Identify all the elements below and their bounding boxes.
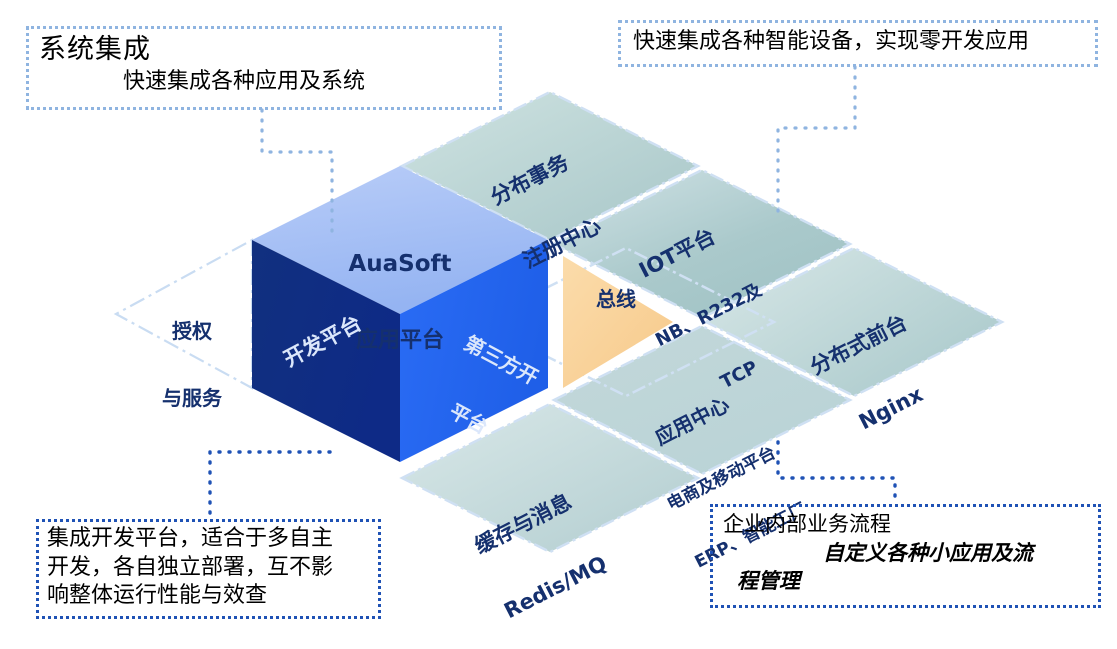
callout-iot-devices[interactable]: 快速集成各种智能设备，实现零开发应用 — [618, 20, 1098, 67]
tile-authorization-service[interactable] — [116, 240, 252, 388]
diagram-canvas: AuaSoft 应用平台 开发平台 第三方开 平台 授权 与服务 分布事务 注册… — [0, 0, 1117, 649]
callout-business-process-line1: 企业内部业务流程 — [723, 511, 1090, 539]
connector-iot-devices — [778, 67, 855, 212]
callout-system-integration-title: 系统集成 — [39, 32, 491, 67]
callout-business-process-line2: 自定义各种小应用及流 — [723, 539, 1090, 567]
callout-iot-devices-text: 快速集成各种智能设备，实现零开发应用 — [633, 28, 1085, 57]
connector-dev-platform — [210, 452, 330, 520]
connector-business-process — [778, 442, 895, 505]
callout-business-process[interactable]: 企业内部业务流程 自定义各种小应用及流 程管理 — [710, 504, 1101, 608]
callout-dev-platform-line2: 开发，各自独立部署，互不影 — [47, 554, 372, 583]
callout-business-process-line3: 程管理 — [723, 567, 1090, 595]
callout-system-integration-subtitle: 快速集成各种应用及系统 — [39, 68, 491, 97]
callout-dev-platform[interactable]: 集成开发平台，适合于多自主 开发，各自独立部署，互不影 响整体运行性能与效查 — [36, 519, 381, 619]
callout-dev-platform-line3: 响整体运行性能与效查 — [47, 582, 372, 611]
callout-dev-platform-line1: 集成开发平台，适合于多自主 — [47, 525, 372, 554]
callout-system-integration[interactable]: 系统集成 快速集成各种应用及系统 — [26, 26, 502, 110]
